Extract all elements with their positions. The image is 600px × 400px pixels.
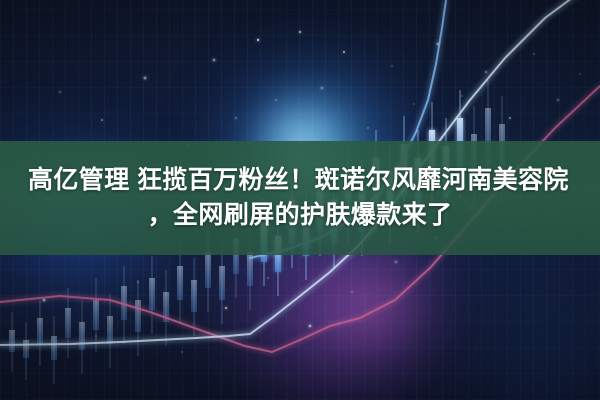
title-line-2: ，全网刷屏的护肤爆款来了 (148, 198, 453, 234)
title-banner: 高亿管理 狂揽百万粉丝！斑诺尔风靡河南美容院 ，全网刷屏的护肤爆款来了 (0, 141, 600, 255)
promo-banner-image: 高亿管理 狂揽百万粉丝！斑诺尔风靡河南美容院 ，全网刷屏的护肤爆款来了 (0, 0, 600, 400)
title-line-1: 高亿管理 狂揽百万粉丝！斑诺尔风靡河南美容院 (28, 163, 569, 199)
